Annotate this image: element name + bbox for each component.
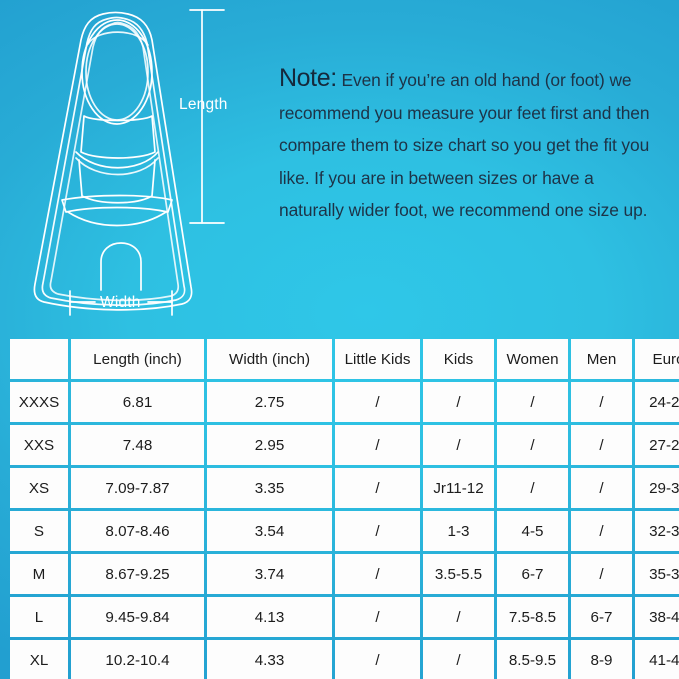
cell-width: 2.75 — [207, 382, 332, 422]
cell-men: / — [571, 468, 632, 508]
fin-inner-edge — [42, 18, 184, 306]
size-chart-page: Length Width Note: Even if you’re an old… — [0, 0, 679, 679]
cell-size: S — [10, 511, 68, 551]
header-kids: Kids — [423, 339, 494, 379]
cell-men: / — [571, 554, 632, 594]
cell-width: 4.13 — [207, 597, 332, 637]
cell-length: 9.45-9.84 — [71, 597, 204, 637]
cell-size: M — [10, 554, 68, 594]
cell-length: 8.67-9.25 — [71, 554, 204, 594]
cell-size: XXXS — [10, 382, 68, 422]
cell-kids: 1-3 — [423, 511, 494, 551]
header-women: Women — [497, 339, 568, 379]
cell-size: XL — [10, 640, 68, 679]
fin-outer-edge — [34, 13, 191, 310]
length-dimension-label: Length — [179, 96, 228, 114]
cell-kids: / — [423, 597, 494, 637]
cell-women: 6-7 — [497, 554, 568, 594]
note-heading: Note: — [279, 64, 337, 92]
foot-pocket-opening — [82, 20, 152, 124]
cell-little-kids: / — [335, 468, 420, 508]
foot-pocket-opening-inner — [86, 24, 148, 120]
cell-width: 2.95 — [207, 425, 332, 465]
cell-women: 7.5-8.5 — [497, 597, 568, 637]
table-row: XS 7.09-7.87 3.35 / Jr11-12 / / 29-31 — [10, 468, 679, 508]
cell-kids: / — [423, 382, 494, 422]
cell-width: 4.33 — [207, 640, 332, 679]
cell-euro: 35-37 — [635, 554, 679, 594]
size-chart-table: Length (inch) Width (inch) Little Kids K… — [7, 336, 679, 679]
cell-euro: 27-29 — [635, 425, 679, 465]
header-euro: Euro — [635, 339, 679, 379]
cell-men: / — [571, 511, 632, 551]
cell-euro: 24-26 — [635, 382, 679, 422]
length-dimension-line — [190, 10, 224, 223]
header-width: Width (inch) — [207, 339, 332, 379]
table-row: XL 10.2-10.4 4.33 / / 8.5-9.5 8-9 41-43 — [10, 640, 679, 679]
table-header-row: Length (inch) Width (inch) Little Kids K… — [10, 339, 679, 379]
cell-size: XXS — [10, 425, 68, 465]
cell-width: 3.74 — [207, 554, 332, 594]
cell-kids: / — [423, 425, 494, 465]
cell-euro: 29-31 — [635, 468, 679, 508]
cell-width: 3.54 — [207, 511, 332, 551]
cell-kids: 3.5-5.5 — [423, 554, 494, 594]
cell-length: 8.07-8.46 — [71, 511, 204, 551]
swim-fin-diagram: Length Width — [0, 0, 280, 330]
cell-length: 10.2-10.4 — [71, 640, 204, 679]
cell-men: / — [571, 425, 632, 465]
cell-euro: 41-43 — [635, 640, 679, 679]
table-row: L 9.45-9.84 4.13 / / 7.5-8.5 6-7 38-40 — [10, 597, 679, 637]
fin-edge-highlight — [50, 23, 178, 301]
table-row: XXS 7.48 2.95 / / / / 27-29 — [10, 425, 679, 465]
cell-little-kids: / — [335, 640, 420, 679]
header-size — [10, 339, 68, 379]
cell-kids: Jr11-12 — [423, 468, 494, 508]
cell-little-kids: / — [335, 511, 420, 551]
cell-little-kids: / — [335, 554, 420, 594]
header-men: Men — [571, 339, 632, 379]
cell-women: 4-5 — [497, 511, 568, 551]
cell-euro: 32-34 — [635, 511, 679, 551]
cell-size: XS — [10, 468, 68, 508]
note-body: Even if you’re an old hand (or foot) we … — [279, 70, 649, 220]
note-paragraph: Note: Even if you’re an old hand (or foo… — [279, 62, 659, 227]
cell-little-kids: / — [335, 597, 420, 637]
cell-women: 8.5-9.5 — [497, 640, 568, 679]
blade-drain-slot — [101, 243, 141, 290]
cell-men: 8-9 — [571, 640, 632, 679]
sole-plate — [62, 196, 172, 213]
cell-size: L — [10, 597, 68, 637]
cell-men: / — [571, 382, 632, 422]
instep-band — [81, 116, 155, 158]
table-row: M 8.67-9.25 3.74 / 3.5-5.5 6-7 / 35-37 — [10, 554, 679, 594]
cell-little-kids: / — [335, 382, 420, 422]
cell-kids: / — [423, 640, 494, 679]
width-dimension-label: Width — [100, 294, 141, 312]
header-little-kids: Little Kids — [335, 339, 420, 379]
cell-euro: 38-40 — [635, 597, 679, 637]
cell-width: 3.35 — [207, 468, 332, 508]
sole-plate-curve — [68, 212, 166, 226]
cell-little-kids: / — [335, 425, 420, 465]
table-row: S 8.07-8.46 3.54 / 1-3 4-5 / 32-34 — [10, 511, 679, 551]
cell-women: / — [497, 468, 568, 508]
cell-length: 7.48 — [71, 425, 204, 465]
cell-length: 6.81 — [71, 382, 204, 422]
cell-men: 6-7 — [571, 597, 632, 637]
table-row: XXXS 6.81 2.75 / / / / 24-26 — [10, 382, 679, 422]
header-length: Length (inch) — [71, 339, 204, 379]
fin-outline-svg — [0, 0, 280, 330]
cell-women: / — [497, 382, 568, 422]
cell-length: 7.09-7.87 — [71, 468, 204, 508]
cell-women: / — [497, 425, 568, 465]
